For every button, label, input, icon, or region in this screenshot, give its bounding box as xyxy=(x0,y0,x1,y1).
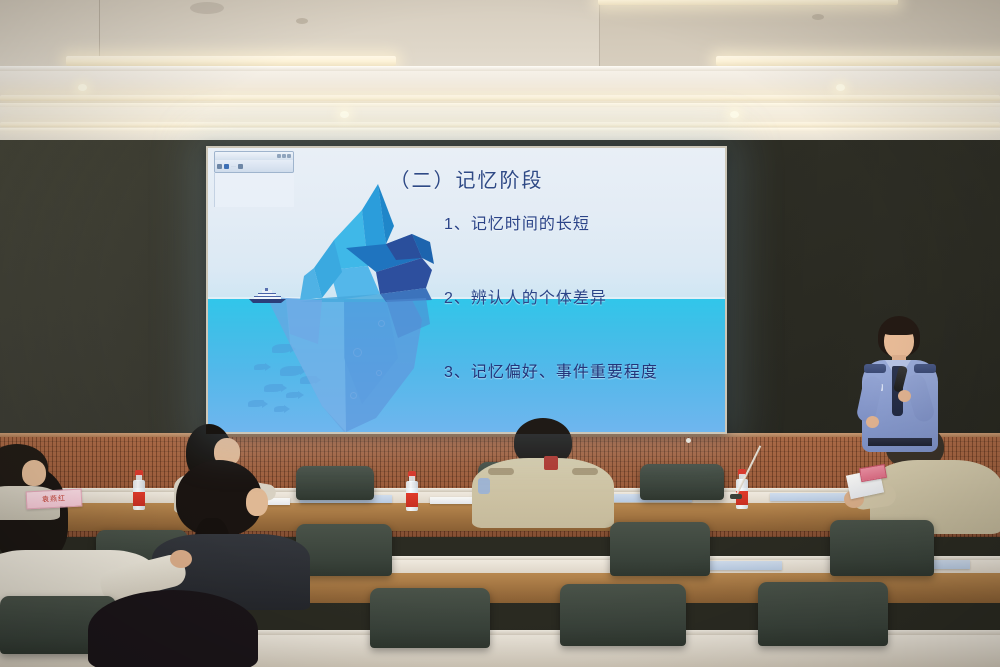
app-title-bar[interactable] xyxy=(215,152,293,160)
attendee-bottom-left xyxy=(88,590,264,667)
save-icon[interactable] xyxy=(217,164,222,169)
chair[interactable] xyxy=(758,582,888,646)
downlight-icon xyxy=(836,84,845,91)
attendee-hand xyxy=(170,550,192,568)
chair[interactable] xyxy=(560,584,686,646)
name-card: 袁燕红 xyxy=(26,489,83,510)
projection-screen[interactable]: ····· （二）记忆阶段 1、记忆时间的长短 2、辨认人的个体差异 3、记忆偏… xyxy=(206,146,727,434)
ceiling-light-strip xyxy=(0,122,1000,127)
downlight-icon xyxy=(78,84,87,91)
presenter-fringe xyxy=(881,321,917,335)
attendee-shoulder-patch xyxy=(478,478,490,494)
presenter-epaulette-left xyxy=(864,364,886,373)
cruise-ship-icon xyxy=(248,288,288,304)
presenter-hand-right xyxy=(898,390,911,402)
attendee-collar-insignia xyxy=(544,456,558,470)
ceiling-light-strip xyxy=(0,95,1000,101)
app-canvas xyxy=(214,173,294,207)
slide-bullet-1: 1、记忆时间的长短 xyxy=(444,210,724,234)
app-toolbar[interactable]: ····· xyxy=(215,160,293,172)
ceiling-vent xyxy=(190,2,224,14)
attendee-head xyxy=(246,488,268,516)
smoke-detector-icon xyxy=(296,18,308,24)
maximize-icon[interactable] xyxy=(282,154,286,158)
undo-icon[interactable] xyxy=(238,164,243,169)
toolbar-label: ····· xyxy=(231,164,236,168)
attendee-head xyxy=(22,460,46,486)
bottle-label xyxy=(133,492,145,506)
chair[interactable] xyxy=(830,520,934,576)
attendee-center-uniform xyxy=(468,418,618,528)
gooseneck-microphone[interactable] xyxy=(686,440,746,500)
water-bottle[interactable] xyxy=(406,471,418,511)
bottle-label xyxy=(406,493,418,507)
ceiling xyxy=(0,0,1000,152)
slide-bullet-2: 2、辨认人的个体差异 xyxy=(444,284,724,308)
chair[interactable] xyxy=(296,524,392,576)
ceiling-light-strip xyxy=(716,56,1000,66)
ceiling-light-strip xyxy=(66,56,396,66)
presenter-epaulette-right xyxy=(914,364,936,373)
presenter-hand-left xyxy=(866,416,879,428)
presenter xyxy=(852,316,948,466)
attendee-hair xyxy=(88,590,258,667)
slideshow-icon[interactable] xyxy=(224,164,229,169)
attendee-ponytail xyxy=(150,460,310,610)
downlight-icon xyxy=(340,111,349,118)
water-bottle[interactable] xyxy=(133,470,145,510)
app-window-chrome[interactable]: ····· xyxy=(214,151,294,173)
window-controls[interactable] xyxy=(277,154,291,158)
presenter-belt xyxy=(868,438,932,446)
conference-room-scene: ····· （二）记忆阶段 1、记忆时间的长短 2、辨认人的个体差异 3、记忆偏… xyxy=(0,0,1000,667)
slide-bullet-3: 3、记忆偏好、事件重要程度 xyxy=(444,358,724,382)
slide-bullet-list: 1、记忆时间的长短 2、辨认人的个体差异 3、记忆偏好、事件重要程度 xyxy=(444,210,724,432)
downlight-icon xyxy=(730,111,739,118)
chair[interactable] xyxy=(610,522,710,576)
name-card-text: 袁燕红 xyxy=(42,493,66,504)
minimize-icon[interactable] xyxy=(277,154,281,158)
attendee-epaulette xyxy=(488,468,514,475)
smoke-detector-icon xyxy=(812,14,824,20)
attendee-epaulette xyxy=(572,468,598,475)
presentation-slide: ····· （二）记忆阶段 1、记忆时间的长短 2、辨认人的个体差异 3、记忆偏… xyxy=(208,148,725,432)
chair[interactable] xyxy=(370,588,490,648)
ceiling-light-strip xyxy=(598,0,898,5)
close-icon[interactable] xyxy=(287,154,291,158)
